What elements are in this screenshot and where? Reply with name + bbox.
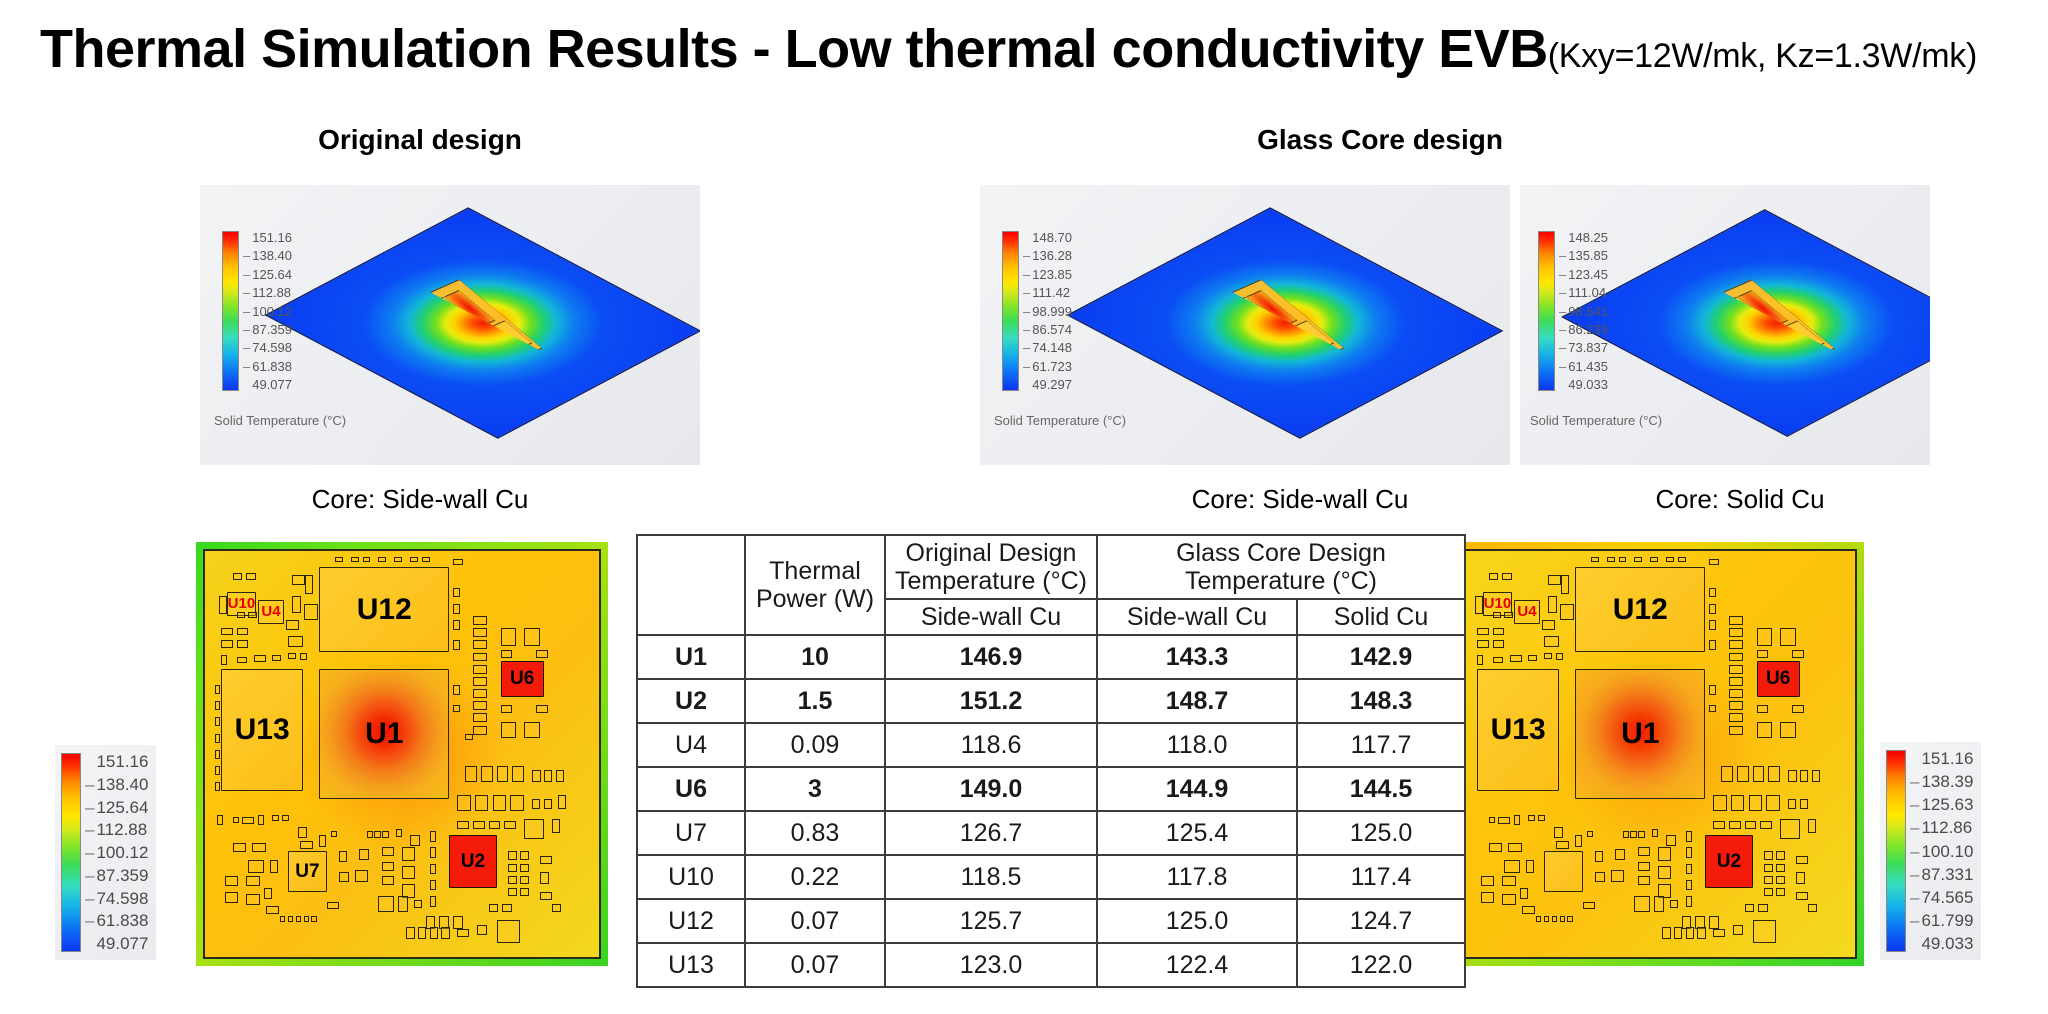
colorbar-tick: 61.435	[1559, 360, 1608, 373]
colorbar-tick: 74.598	[243, 341, 292, 354]
cell-glass_sw: 143.3	[1097, 635, 1297, 679]
colorbar-tick: 74.598	[85, 890, 148, 907]
slide-root: Thermal Simulation Results - Low thermal…	[0, 0, 2048, 1014]
board-plate	[1067, 207, 1504, 439]
table-header: Thermal Power (W) Original Design Temper…	[637, 535, 1465, 635]
colorbar-tick: 87.359	[243, 323, 292, 336]
component-u13: U13	[221, 669, 304, 791]
component-u6: U6	[501, 661, 544, 698]
colorbar-tick: 87.331	[1910, 866, 1973, 883]
component-u12: U12	[1575, 567, 1705, 652]
colorbar-tick: 87.359	[85, 867, 148, 884]
colorbar-ticks: 148.70 136.28 123.85 111.42 98.999 86.57…	[1023, 231, 1072, 391]
component-u12: U12	[319, 567, 449, 652]
page-title: Thermal Simulation Results - Low thermal…	[40, 18, 2030, 80]
cell-orig: 151.2	[885, 679, 1097, 723]
heading-glass-core-design: Glass Core design	[1130, 124, 1630, 156]
cell-glass_solid: 117.4	[1297, 855, 1465, 899]
cell-power: 1.5	[745, 679, 885, 723]
cell-power: 0.07	[745, 943, 885, 987]
caption-core-original: Core: Side-wall Cu	[200, 484, 640, 515]
colorbar-tick: 98.999	[1023, 305, 1072, 318]
thermal-3d-view-original: 151.16 138.40 125.64 112.88 100.12 87.35…	[200, 185, 700, 465]
component-u4: U4	[1514, 600, 1540, 624]
cell-power: 0.22	[745, 855, 885, 899]
header-original-line2: Temperature (°C)	[895, 567, 1087, 595]
cell-glass_solid: 125.0	[1297, 811, 1465, 855]
colorbar-tick: 151.16	[1910, 750, 1973, 767]
component-label-u6: U6	[502, 662, 543, 697]
header-sub-original-sidewall: Side-wall Cu	[885, 599, 1097, 635]
cell-glass_solid: 144.5	[1297, 767, 1465, 811]
colorbar-ticks: 151.16 138.40 125.64 112.88 100.12 87.35…	[85, 753, 148, 952]
cell-glass_sw: 125.4	[1097, 811, 1297, 855]
table-header-row-1: Thermal Power (W) Original Design Temper…	[637, 535, 1465, 599]
component-label-u7: U7	[289, 852, 326, 891]
colorbar-tick: 148.25	[1559, 231, 1608, 244]
cell-glass_solid: 124.7	[1297, 899, 1465, 943]
colorbar-tick: 136.28	[1023, 249, 1072, 262]
colorbar-tick: 74.565	[1910, 889, 1973, 906]
component-label-u12: U12	[320, 568, 448, 651]
cell-orig: 123.0	[885, 943, 1097, 987]
colorbar-axis-label: Solid Temperature (°C)	[214, 413, 346, 428]
colorbar-glass-solid-3d: 148.25 135.85 123.45 111.04 98.641 86.23…	[1538, 231, 1608, 391]
colorbar-ticks: 151.16 138.39 125.63 112.86 100.10 87.33…	[1910, 750, 1973, 952]
table-row: U21.5151.2148.7148.3	[637, 679, 1465, 723]
cell-glass_solid: 142.9	[1297, 635, 1465, 679]
cell-orig: 125.7	[885, 899, 1097, 943]
colorbar-tick: 61.723	[1023, 360, 1072, 373]
cell-orig: 146.9	[885, 635, 1097, 679]
cell-power: 3	[745, 767, 885, 811]
colorbar-tick: 138.40	[85, 776, 148, 793]
component-label-u13: U13	[222, 670, 303, 790]
colorbar-tick: 74.148	[1023, 341, 1072, 354]
cell-orig: 126.7	[885, 811, 1097, 855]
colorbar-tick: 148.70	[1023, 231, 1072, 244]
table-row: U70.83126.7125.4125.0	[637, 811, 1465, 855]
cell-power: 0.09	[745, 723, 885, 767]
colorbar-tick: 112.88	[85, 821, 148, 838]
colorbar-tick: 112.88	[243, 286, 292, 299]
component-u7	[1544, 851, 1583, 892]
cell-glass_solid: 117.7	[1297, 723, 1465, 767]
table-row: U40.09118.6118.0117.7	[637, 723, 1465, 767]
component-label-u1: U1	[320, 670, 448, 798]
colorbar-tick: 86.574	[1023, 323, 1072, 336]
colorbar-tick: 61.838	[85, 912, 148, 929]
colorbar-gradient	[1886, 750, 1906, 952]
colorbar-gradient	[61, 753, 81, 952]
header-thermal-power-line1: Thermal	[769, 557, 861, 585]
cell-glass_sw: 125.0	[1097, 899, 1297, 943]
colorbar-tick: 86.239	[1559, 323, 1608, 336]
colorbar-gradient	[222, 231, 239, 391]
colorbar-tick: 61.838	[243, 360, 292, 373]
board-thermal-surface	[265, 207, 700, 439]
component-label-u1: U1	[1576, 670, 1704, 798]
colorbar-tick: 100.10	[1910, 843, 1973, 860]
colorbar-tick: 138.39	[1910, 773, 1973, 790]
component-u1: U1	[319, 669, 449, 799]
cell-glass_sw: 122.4	[1097, 943, 1297, 987]
board-plate	[1561, 209, 1930, 437]
cell-orig: 149.0	[885, 767, 1097, 811]
colorbar-tick: 49.033	[1910, 935, 1973, 952]
component-label-u6: U6	[1758, 662, 1799, 697]
component-label-u4: U4	[1515, 601, 1539, 623]
colorbar-pcb-right: 151.16 138.39 125.63 112.86 100.10 87.33…	[1880, 742, 1981, 960]
header-thermal-power: Thermal Power (W)	[745, 535, 885, 635]
colorbar-tick: 100.12	[243, 305, 292, 318]
cell-power: 0.07	[745, 899, 885, 943]
cell-part: U13	[637, 943, 745, 987]
colorbar-tick: 125.64	[85, 799, 148, 816]
colorbar-axis-label: Solid Temperature (°C)	[994, 413, 1126, 428]
colorbar-original-3d: 151.16 138.40 125.64 112.88 100.12 87.35…	[222, 231, 292, 391]
header-glass-line2: Temperature (°C)	[1185, 567, 1377, 595]
component-label-u13: U13	[1478, 670, 1559, 790]
colorbar-tick: 49.033	[1559, 378, 1608, 391]
colorbar-tick: 49.297	[1023, 378, 1072, 391]
colorbar-gradient	[1538, 231, 1555, 391]
cell-glass_sw: 117.8	[1097, 855, 1297, 899]
table-row: U100.22118.5117.8117.4	[637, 855, 1465, 899]
component-label-u12: U12	[1576, 568, 1704, 651]
header-sub-glass-solid: Solid Cu	[1297, 599, 1465, 635]
component-label-u2: U2	[450, 836, 495, 887]
component-u13: U13	[1477, 669, 1560, 791]
pcb-thermal-map-original: U12 U1 U13 U6 U2 U7 U10 U4	[196, 542, 608, 966]
colorbar-tick: 125.63	[1910, 796, 1973, 813]
colorbar-axis-label: Solid Temperature (°C)	[1530, 413, 1662, 428]
pcb-thermal-map-glass-core: U12 U1 U13 U6 U2 U10 U4	[1452, 542, 1864, 966]
table-row: U63149.0144.9144.5	[637, 767, 1465, 811]
table-body: U110146.9143.3142.9U21.5151.2148.7148.3U…	[637, 635, 1465, 987]
header-glass-line1: Glass Core Design	[1176, 539, 1386, 567]
board-thermal-surface	[1561, 209, 1930, 437]
colorbar-tick: 151.16	[85, 753, 148, 770]
colorbar-tick: 61.799	[1910, 912, 1973, 929]
header-original-line1: Original Design	[906, 539, 1077, 567]
results-table: Thermal Power (W) Original Design Temper…	[636, 534, 1466, 988]
colorbar-tick: 112.86	[1910, 819, 1973, 836]
colorbar-tick: 100.12	[85, 844, 148, 861]
colorbar-glass-sidewall-3d: 148.70 136.28 123.85 111.42 98.999 86.57…	[1002, 231, 1072, 391]
colorbar-tick: 111.04	[1559, 286, 1608, 299]
cell-glass_sw: 144.9	[1097, 767, 1297, 811]
component-u4: U4	[258, 600, 284, 624]
table-row: U120.07125.7125.0124.7	[637, 899, 1465, 943]
header-original-design-group: Original Design Temperature (°C)	[885, 535, 1097, 599]
colorbar-tick: 125.64	[243, 268, 292, 281]
cell-part: U10	[637, 855, 745, 899]
header-thermal-power-line2: Power (W)	[756, 585, 874, 613]
cell-orig: 118.5	[885, 855, 1097, 899]
pcb-isometric-original	[318, 185, 648, 465]
header-sub-glass-sidewall: Side-wall Cu	[1097, 599, 1297, 635]
component-u7: U7	[288, 851, 327, 892]
cell-part: U1	[637, 635, 745, 679]
table-row: U110146.9143.3142.9	[637, 635, 1465, 679]
cell-part: U7	[637, 811, 745, 855]
header-glass-core-group: Glass Core Design Temperature (°C)	[1097, 535, 1465, 599]
table-row: U130.07123.0122.4122.0	[637, 943, 1465, 987]
colorbar-tick: 138.40	[243, 249, 292, 262]
cell-glass_sw: 118.0	[1097, 723, 1297, 767]
cell-glass_solid: 148.3	[1297, 679, 1465, 723]
cell-part: U12	[637, 899, 745, 943]
colorbar-tick: 111.42	[1023, 286, 1072, 299]
colorbar-tick: 123.85	[1023, 268, 1072, 281]
component-label-u2: U2	[1706, 836, 1751, 887]
colorbar-gradient	[1002, 231, 1019, 391]
caption-core-glass-solid: Core: Solid Cu	[1540, 484, 1940, 515]
colorbar-ticks: 151.16 138.40 125.64 112.88 100.12 87.35…	[243, 231, 292, 391]
colorbar-tick: 49.077	[243, 378, 292, 391]
thermal-3d-view-glass-solid: 148.25 135.85 123.45 111.04 98.641 86.23…	[1520, 185, 1930, 465]
colorbar-tick: 73.837	[1559, 341, 1608, 354]
title-main-text: Thermal Simulation Results - Low thermal…	[40, 19, 1548, 79]
caption-core-glass-sidewall: Core: Side-wall Cu	[1090, 484, 1510, 515]
component-u6: U6	[1757, 661, 1800, 698]
cell-orig: 118.6	[885, 723, 1097, 767]
title-parameters-text: (Kxy=12W/mk, Kz=1.3W/mk)	[1548, 37, 1977, 75]
cell-part: U2	[637, 679, 745, 723]
colorbar-tick: 151.16	[243, 231, 292, 244]
thermal-3d-view-glass-sidewall: 148.70 136.28 123.85 111.42 98.999 86.57…	[980, 185, 1510, 465]
board-plate	[265, 207, 700, 439]
pcb-isometric-glass-solid	[1616, 185, 1930, 465]
colorbar-ticks: 148.25 135.85 123.45 111.04 98.641 86.23…	[1559, 231, 1608, 391]
board-thermal-surface	[1067, 207, 1504, 439]
cell-part: U4	[637, 723, 745, 767]
cell-glass_sw: 148.7	[1097, 679, 1297, 723]
pcb-board-surface: U12 U1 U13 U6 U2 U10 U4	[1459, 549, 1857, 959]
component-label-u4: U4	[259, 601, 283, 623]
cell-glass_solid: 122.0	[1297, 943, 1465, 987]
component-u2: U2	[449, 835, 496, 888]
cell-part: U6	[637, 767, 745, 811]
header-part	[637, 535, 745, 635]
component-u2: U2	[1705, 835, 1752, 888]
colorbar-tick: 135.85	[1559, 249, 1608, 262]
cell-power: 10	[745, 635, 885, 679]
pcb-isometric-glass-sidewall	[1120, 185, 1450, 465]
pcb-board-surface: U12 U1 U13 U6 U2 U7 U10 U4	[203, 549, 601, 959]
colorbar-tick: 98.641	[1559, 305, 1608, 318]
component-u1: U1	[1575, 669, 1705, 799]
cell-power: 0.83	[745, 811, 885, 855]
colorbar-tick: 123.45	[1559, 268, 1608, 281]
colorbar-pcb-left: 151.16 138.40 125.64 112.88 100.12 87.35…	[55, 745, 156, 960]
heading-original-design: Original design	[200, 124, 640, 156]
colorbar-tick: 49.077	[85, 935, 148, 952]
